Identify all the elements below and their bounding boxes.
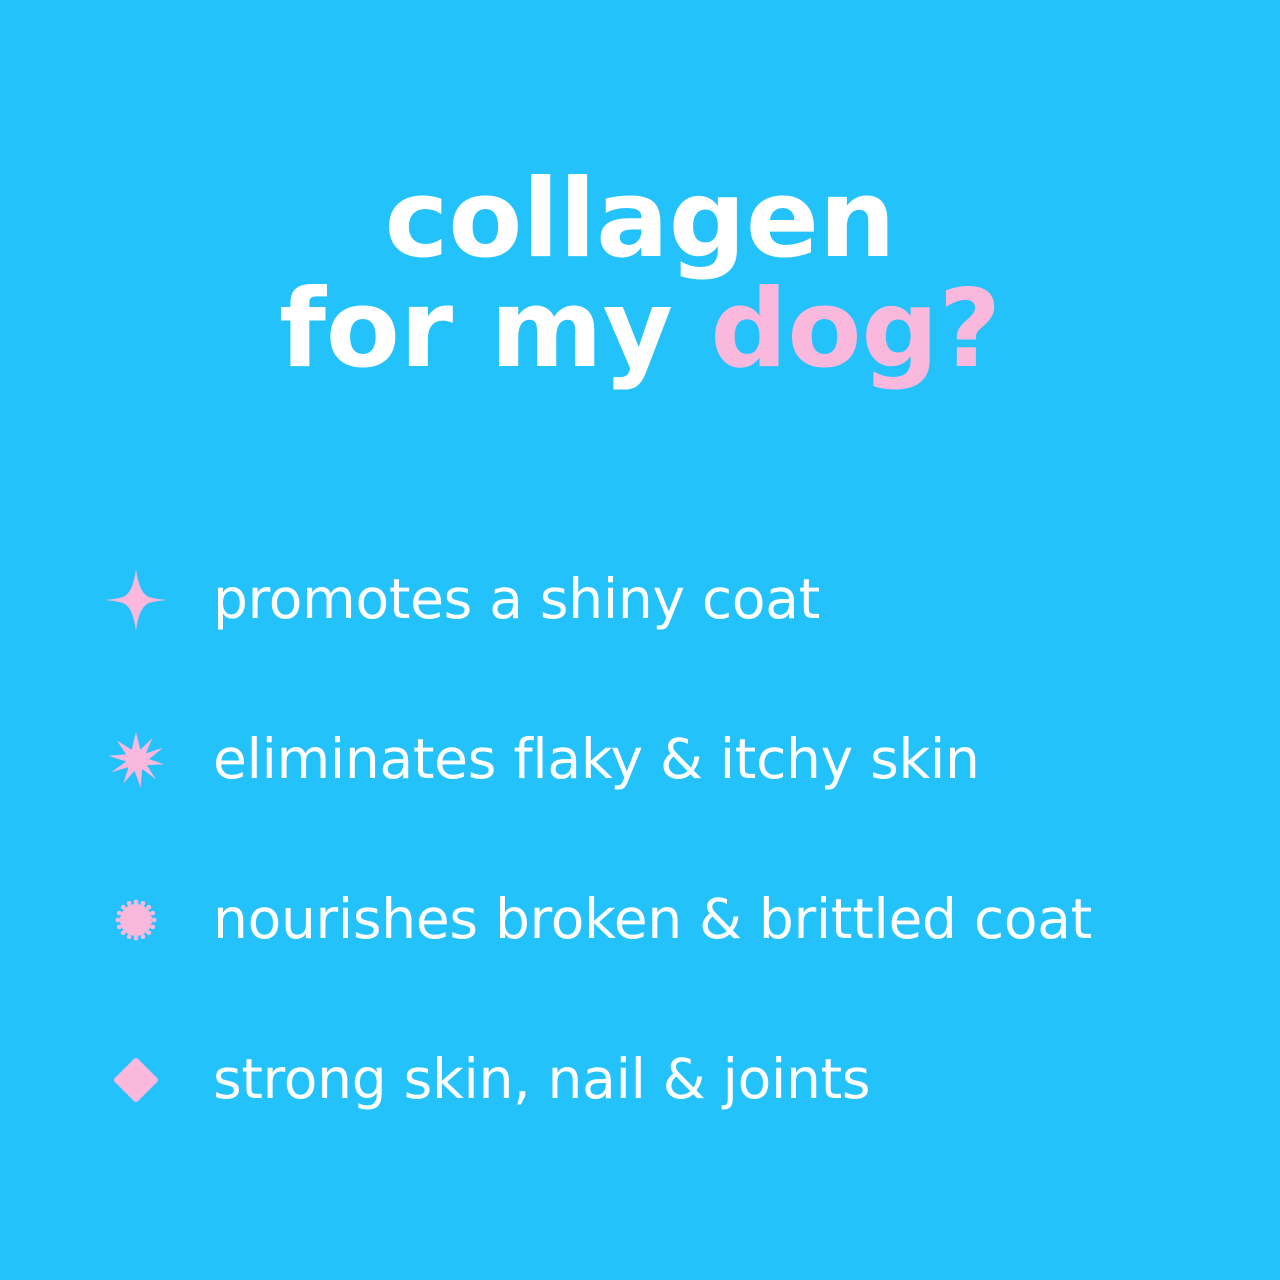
four-point-sparkle-icon [98, 562, 174, 638]
benefit-label-3: nourishes broken & brittled coat [213, 891, 1092, 949]
benefit-item-4: strong skin, nail & joints [98, 1032, 1258, 1128]
page-title: collagen for my dog? [0, 168, 1280, 381]
scalloped-circle-icon [98, 882, 174, 958]
benefits-list: promotes a shiny coat eliminates flaky &… [98, 552, 1258, 1128]
rounded-diamond-icon [98, 1042, 174, 1118]
promo-poster: collagen for my dog? promotes a shiny co… [0, 0, 1280, 1280]
benefit-item-1: promotes a shiny coat [98, 552, 1258, 648]
benefit-label-1: promotes a shiny coat [213, 571, 820, 629]
headline-line-1: collagen [0, 168, 1280, 272]
headline-line-2-plain: for my [279, 267, 710, 392]
headline-line-2: for my dog? [0, 278, 1280, 382]
benefit-label-4: strong skin, nail & joints [213, 1051, 870, 1109]
headline-line-2-accent: dog? [710, 267, 1001, 392]
eight-point-starburst-icon [98, 722, 174, 798]
benefit-item-3: nourishes broken & brittled coat [98, 872, 1258, 968]
benefit-item-2: eliminates flaky & itchy skin [98, 712, 1258, 808]
benefit-label-2: eliminates flaky & itchy skin [213, 731, 980, 789]
